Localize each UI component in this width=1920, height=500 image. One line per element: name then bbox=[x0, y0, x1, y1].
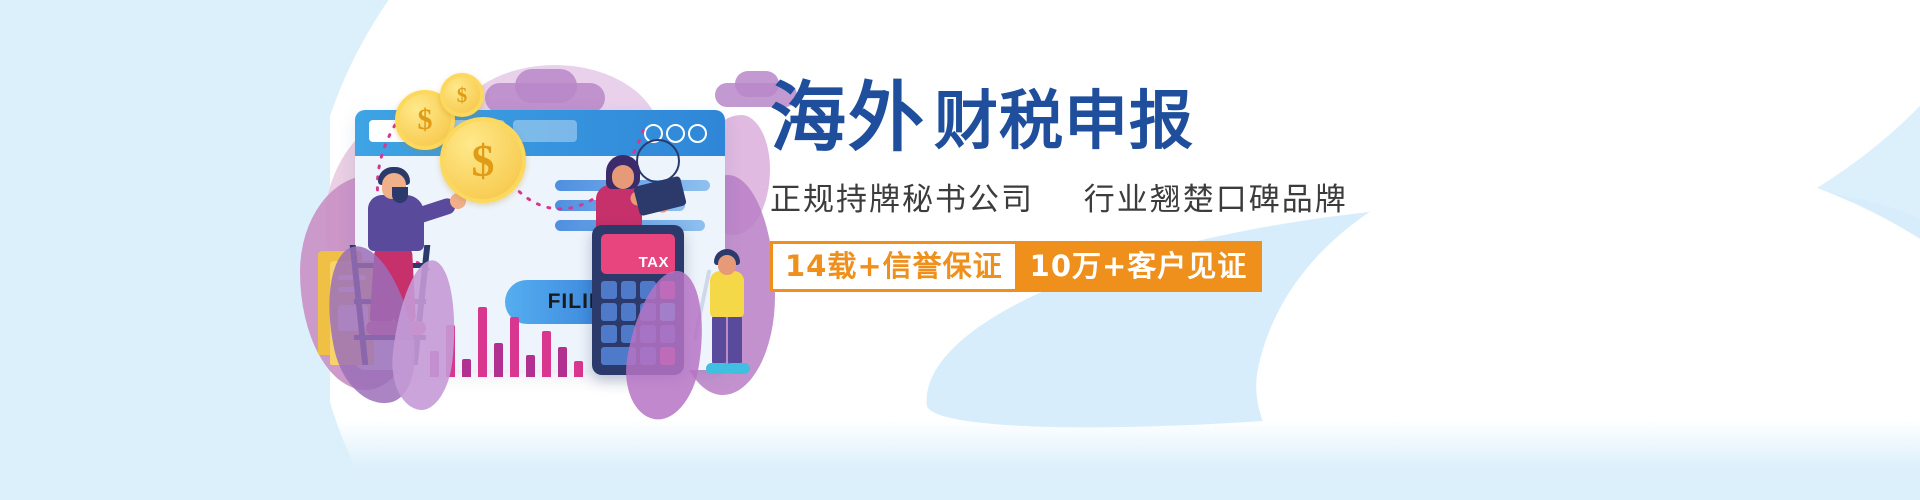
chart-bar bbox=[542, 331, 551, 377]
chart-bar bbox=[494, 343, 503, 377]
person-small-leg-right bbox=[728, 313, 742, 367]
person-small-torso bbox=[710, 271, 744, 317]
calculator-key bbox=[601, 325, 617, 343]
coin-icon-tiny: $ bbox=[440, 73, 484, 117]
background-bottom-fade bbox=[0, 420, 1920, 500]
hero-illustration: FILING $ bbox=[300, 55, 770, 395]
headline-primary: 海外 bbox=[770, 80, 926, 156]
person-right-head bbox=[612, 165, 634, 189]
marketing-copy: 海外 财税申报 正规持牌秘书公司 行业翘楚口碑品牌 14载+信誉保证 10万+客… bbox=[770, 80, 1470, 292]
person-small-leg-left bbox=[712, 313, 726, 367]
subtitle-right: 行业翘楚口碑品牌 bbox=[1084, 182, 1348, 218]
chart-bar bbox=[558, 347, 567, 377]
status-badge-experience: 14载+信誉保证 bbox=[770, 241, 1018, 292]
page-title: 海外 财税申报 bbox=[770, 80, 1470, 156]
person-left-beard bbox=[392, 187, 408, 203]
chart-bar bbox=[462, 359, 471, 377]
status-badge-clients: 10万+客户见证 bbox=[1018, 241, 1263, 292]
subtitle-left: 正规持牌秘书公司 bbox=[770, 182, 1034, 218]
bar-chart-decoration bbox=[430, 291, 600, 377]
banner-root: FILING $ bbox=[0, 0, 1920, 500]
headline-secondary: 财税申报 bbox=[934, 90, 1194, 154]
calculator-key bbox=[621, 303, 637, 321]
subtitle: 正规持牌秘书公司 行业翘楚口碑品牌 bbox=[770, 174, 1470, 219]
calculator-key bbox=[601, 303, 617, 321]
coin-icon-large: $ bbox=[440, 117, 526, 203]
calculator-key bbox=[601, 281, 617, 299]
chart-bar bbox=[510, 317, 519, 377]
chart-bar bbox=[478, 307, 487, 377]
calculator-screen: TAX bbox=[601, 234, 675, 274]
calculator-key bbox=[621, 281, 637, 299]
chart-bar bbox=[526, 355, 535, 377]
badge-group: 14载+信誉保证 10万+客户见证 bbox=[770, 241, 1470, 292]
calculator-screen-label: TAX bbox=[639, 254, 669, 271]
person-small-shoe-right bbox=[726, 363, 750, 374]
person-small-head bbox=[718, 255, 736, 275]
chart-bar bbox=[574, 361, 583, 377]
